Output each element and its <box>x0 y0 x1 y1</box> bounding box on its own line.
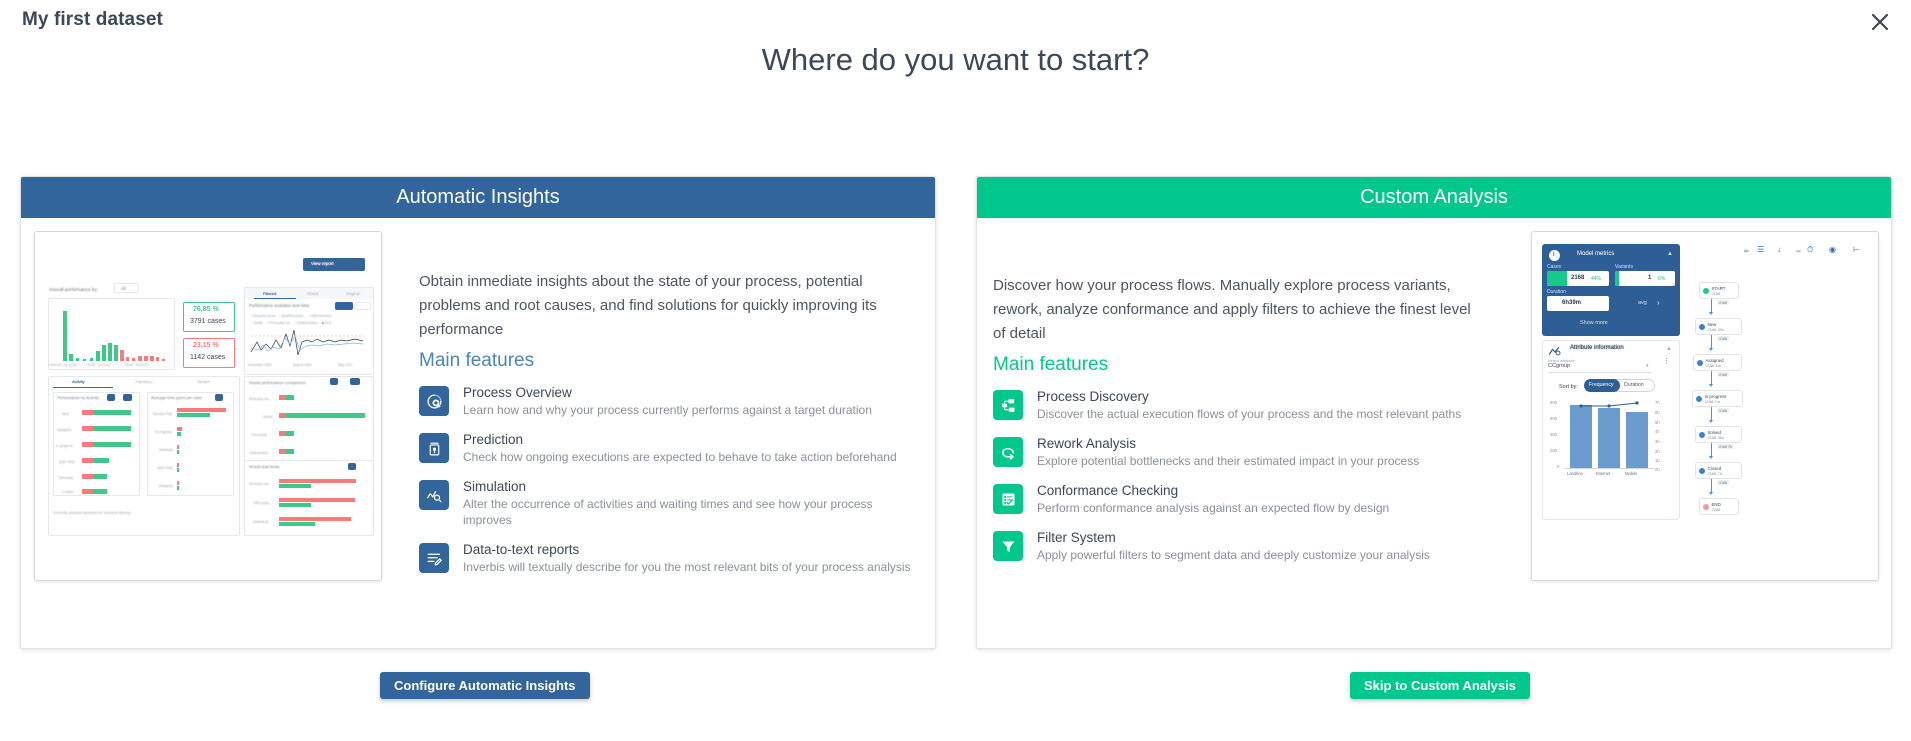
process-overview-icon <box>419 386 449 416</box>
mini-cat-internet: Internet <box>1596 471 1610 476</box>
cards-container: Automatic Insights View report Overall p… <box>0 176 1911 651</box>
mini-overall-filter <box>114 283 139 293</box>
mini-duration-mode: avg <box>1638 300 1647 306</box>
pen-icon[interactable]: ✏ <box>1744 248 1749 256</box>
list-icon[interactable]: ☰ <box>1757 246 1764 254</box>
node-value: 2168 30s <box>1708 327 1724 332</box>
custom-analysis-preview: i Model metrics ▲ Cases 2168 44% Variant… <box>1531 231 1879 581</box>
close-icon[interactable] <box>1863 5 1897 39</box>
mini-tab-activity: Activity <box>72 379 85 384</box>
feature-filter-system[interactable]: Filter System Apply powerful filters to … <box>993 529 1513 563</box>
mini-sort-frequency[interactable]: Frequency <box>1589 382 1614 388</box>
target-icon[interactable]: ◉ <box>1829 246 1836 254</box>
node-dot <box>1697 360 1703 366</box>
feature-subtitle: Inverbis will textually describe for you… <box>463 559 911 575</box>
flow-node-new[interactable]: New 2168 30s <box>1695 318 1742 335</box>
feature-subtitle: Discover the actual execution flows of y… <box>1037 406 1461 422</box>
mini-comparison-title: Result performance comparison <box>249 380 306 385</box>
node-value: 2168 <box>1712 291 1726 296</box>
feature-process-overview[interactable]: Process Overview Learn how and why your … <box>419 384 919 418</box>
node-label: START <box>1712 286 1726 291</box>
mini-activity-title: Performance by Activity <box>57 395 99 400</box>
feature-title: Prediction <box>463 431 897 448</box>
feature-title: Rework Analysis <box>1037 435 1419 452</box>
mini-sort-by-label: Sort by: <box>1559 384 1578 390</box>
mini-kpi-bad-percent: 23,15 % <box>193 342 219 349</box>
card-body-automatic-insights: View report Overall performance by: All <box>21 218 935 649</box>
feature-subtitle: Explore potential bottlenecks and their … <box>1037 453 1419 469</box>
mini-avgtime-title: Average time spent per case <box>151 395 202 400</box>
card-title-automatic-insights: Automatic Insights <box>21 177 935 218</box>
mini-custom-analysis: i Model metrics ▲ Cases 2168 44% Variant… <box>1532 232 1878 580</box>
mini-tab-variant: Variant <box>197 379 209 384</box>
mini-variants-label: Variants <box>1615 264 1633 270</box>
dataset-title: My first dataset <box>22 9 163 31</box>
node-value: 2168 <box>1712 507 1721 512</box>
flow-node-end[interactable]: END 2168 <box>1699 498 1739 515</box>
custom-analysis-features-heading: Main features <box>993 354 1108 376</box>
simulation-icon <box>419 480 449 510</box>
mini-overall-filter-value: All <box>121 286 126 291</box>
mini-tab-global: Global <box>307 291 319 296</box>
feature-process-discovery[interactable]: Process Discovery Discover the actual ex… <box>993 388 1513 422</box>
feature-subtitle: Check how ongoing executions are expecte… <box>463 449 897 465</box>
node-dot <box>1699 324 1705 330</box>
data-to-text-icon <box>419 543 449 573</box>
automatic-insights-description: Obtain inmediate insights about the stat… <box>419 270 902 342</box>
feature-conformance-checking[interactable]: Conformance Checking Perform conformance… <box>993 482 1513 516</box>
feature-subtitle: Perform conformance analysis against an … <box>1037 500 1389 516</box>
node-label: Assigned <box>1706 358 1724 363</box>
node-dot <box>1696 396 1702 402</box>
card-body-custom-analysis: i Model metrics ▲ Cases 2168 44% Variant… <box>977 218 1891 649</box>
feature-title: Conformance Checking <box>1037 482 1389 499</box>
collapse-icon-2: ▲ <box>1666 346 1672 352</box>
edge-label: 2168 <box>1717 372 1729 377</box>
node-value: 2168 36s <box>1708 435 1724 440</box>
mini-leadtimes-title: Result lead times <box>249 464 280 469</box>
feature-title: Data-to-text reports <box>463 541 911 558</box>
start-dialog: My first dataset Where do you want to st… <box>0 0 1911 741</box>
node-dot <box>1703 288 1709 294</box>
feature-title: Simulation <box>463 478 919 495</box>
mini-cases-label: Cases <box>1547 264 1561 270</box>
top-bar: My first dataset <box>0 0 1911 42</box>
feature-subtitle: Alter the occurrence of activities and w… <box>463 496 919 528</box>
chevron-down-icon: ▾ <box>1646 363 1649 369</box>
edge-label: 2168 <box>1717 300 1729 305</box>
feature-title: Process Overview <box>463 384 872 401</box>
node-dot <box>1699 468 1705 474</box>
edge-label: 2168 <box>1717 336 1729 341</box>
mini-tab-original: Original <box>346 291 360 296</box>
edge-label: 2168 <box>1717 408 1729 413</box>
mini-variants-pct: 6% <box>1658 276 1665 282</box>
mini-view-report-label: View report <box>311 261 334 266</box>
mini-evolution-title: Performance evolution over time <box>249 303 309 308</box>
flow-node-in-progress[interactable]: In progress 2168 7m <box>1692 390 1743 407</box>
mini-variants-value: 1 <box>1648 275 1651 281</box>
feature-prediction[interactable]: Prediction Check how ongoing executions … <box>419 431 919 465</box>
node-dot <box>1703 504 1709 510</box>
clock-icon[interactable]: ⏱ <box>1807 246 1813 254</box>
flow-node-solved[interactable]: Solved 2168 36s <box>1695 426 1742 443</box>
mini-show-more: Show more <box>1580 320 1608 326</box>
mini-kpi-bad-cases: 1142 cases <box>190 354 225 361</box>
card-automatic-insights: Automatic Insights View report Overall p… <box>20 176 936 649</box>
node-label: Closed <box>1708 466 1722 471</box>
mini-tab-filtered: Filtered <box>263 291 276 296</box>
mini-footer-note: Currently selected elements for resource… <box>53 511 130 515</box>
mini-evolution-x1: August 2020 <box>293 363 312 367</box>
process-discovery-icon <box>993 390 1023 420</box>
page-title: Where do you want to start? <box>0 42 1911 78</box>
card-title-custom-analysis: Custom Analysis <box>977 177 1891 218</box>
skip-to-custom-analysis-button[interactable]: Skip to Custom Analysis <box>1350 672 1530 699</box>
bar-internet <box>1598 408 1620 468</box>
mini-dashboard: View report Overall performance by: All <box>35 232 381 580</box>
node-value: 2168 7m <box>1705 399 1727 404</box>
custom-analysis-feature-list: Process Discovery Discover the actual ex… <box>993 388 1513 576</box>
node-dot <box>1699 432 1705 438</box>
down-arrow-icon[interactable]: ↓ <box>1777 246 1781 254</box>
mini-cases-value: 2168 <box>1571 275 1584 281</box>
feature-subtitle: Learn how and why your process currently… <box>463 402 872 418</box>
configure-automatic-insights-button[interactable]: Configure Automatic Insights <box>380 672 590 699</box>
flow-node-assigned[interactable]: Assigned 2168 1m <box>1693 354 1742 371</box>
card-custom-analysis: Custom Analysis i Model metrics ▲ Cases … <box>976 176 1892 649</box>
rework-analysis-icon <box>993 437 1023 467</box>
feature-data-to-text-reports[interactable]: Data-to-text reports Inverbis will textu… <box>419 541 919 575</box>
mini-select-attribute-value: CCgroup <box>1548 363 1570 369</box>
mini-sort-duration[interactable]: Duration <box>1624 382 1644 388</box>
mini-duration-value: 6h39m <box>1562 300 1581 306</box>
bar-mobile <box>1626 412 1648 468</box>
mini-kpi-good-cases: 3791 cases <box>190 318 226 325</box>
mini-duration-label: Duration <box>1547 289 1566 295</box>
node-value: 2168 1m <box>1706 363 1724 368</box>
mini-cases-pct: 44% <box>1591 276 1601 282</box>
node-label: END <box>1712 502 1721 507</box>
automatic-insights-preview: View report Overall performance by: All <box>34 231 382 581</box>
mini-model-metrics-title: Model metrics <box>1577 251 1614 257</box>
automatic-insights-features-heading: Main features <box>419 350 534 372</box>
split-icon[interactable]: ⊢ <box>1853 246 1860 254</box>
mini-kpi-good-percent: 76,85 % <box>193 306 219 313</box>
feature-simulation[interactable]: Simulation Alter the occurrence of activ… <box>419 478 919 528</box>
chevron-right-icon: › <box>1657 298 1660 307</box>
collapse-icon: ▲ <box>1667 251 1673 257</box>
mini-evolution-x2: May 2021 <box>338 363 352 367</box>
conformance-checking-icon <box>993 484 1023 514</box>
feature-subtitle: Apply powerful filters to segment data a… <box>1037 547 1430 563</box>
mini-tab-transition: Transition <box>135 379 152 384</box>
link-icon[interactable]: ⇿ <box>1796 248 1801 256</box>
feature-title: Process Discovery <box>1037 388 1461 405</box>
mini-attribute-title: Attribute information <box>1570 345 1624 351</box>
more-options-icon[interactable]: ⋮ <box>1663 360 1670 364</box>
mini-overall-label: Overall performance by: <box>49 287 98 292</box>
mini-cat-mobile: Mobile <box>1625 471 1637 476</box>
mini-cat-landline: Landline <box>1567 471 1583 476</box>
feature-rework-analysis[interactable]: Rework Analysis Explore potential bottle… <box>993 435 1513 469</box>
edge-label: 2168 <box>1717 480 1729 485</box>
node-value: 2168 7h <box>1708 471 1722 476</box>
flow-node-start[interactable]: START 2168 <box>1699 282 1739 299</box>
filter-system-icon <box>993 531 1023 561</box>
flow-node-closed[interactable]: Closed 2168 7h <box>1695 462 1742 479</box>
prediction-icon <box>419 433 449 463</box>
custom-analysis-description: Discover how your process flows. Manuall… <box>993 274 1486 346</box>
mini-evolution-x0: November 2020 <box>248 363 271 367</box>
feature-title: Filter System <box>1037 529 1430 546</box>
edge-label: 2168 7h <box>1717 444 1734 449</box>
node-label: In progress <box>1705 394 1727 399</box>
automatic-insights-feature-list: Process Overview Learn how and why your … <box>419 384 919 588</box>
